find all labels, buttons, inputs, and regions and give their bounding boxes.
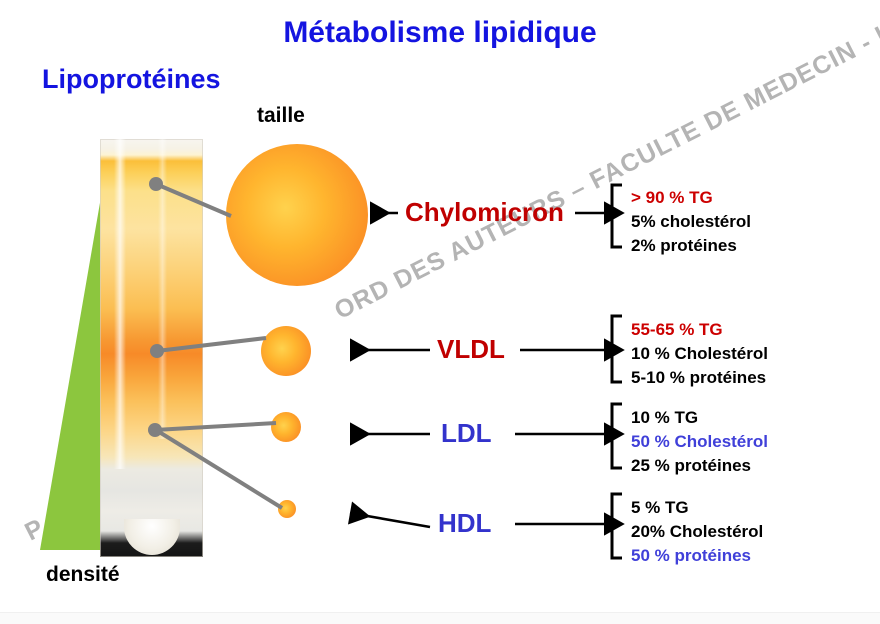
bottom-strip bbox=[0, 612, 880, 624]
composition-chylomicron: > 90 % TG 5% cholestérol 2% protéines bbox=[631, 186, 751, 258]
bracket-vldl bbox=[612, 316, 622, 382]
composition-line: > 90 % TG bbox=[631, 186, 751, 210]
class-label-chylomicron: Chylomicron bbox=[405, 197, 564, 228]
axis-label-taille: taille bbox=[257, 104, 305, 128]
class-label-ldl: LDL bbox=[441, 418, 492, 449]
particle-ldl bbox=[271, 412, 301, 442]
composition-line: 5% cholestérol bbox=[631, 210, 751, 234]
composition-line: 20% Cholestérol bbox=[631, 520, 763, 544]
composition-line: 50 % Cholestérol bbox=[631, 430, 768, 454]
composition-ldl: 10 % TG 50 % Cholestérol 25 % protéines bbox=[631, 406, 768, 478]
watermark-text: ORD DES AUTEURS – FACULTE DE MEDECIN - U… bbox=[330, 9, 880, 325]
bracket-hdl bbox=[612, 494, 622, 558]
density-gradient-triangle bbox=[40, 168, 106, 550]
centrifuge-tube-image bbox=[100, 139, 203, 557]
tube-highlight-secondary bbox=[158, 139, 167, 439]
bracket-chylomicron bbox=[612, 185, 622, 247]
composition-line: 2% protéines bbox=[631, 234, 751, 258]
composition-line: 55-65 % TG bbox=[631, 318, 768, 342]
class-label-vldl-text: VLDL bbox=[437, 334, 505, 364]
page-title: Métabolisme lipidique bbox=[0, 16, 880, 50]
tube-bottom bbox=[124, 519, 180, 555]
composition-line: 10 % TG bbox=[631, 406, 768, 430]
class-label-ldl-text: LDL bbox=[441, 418, 492, 448]
composition-line: 25 % protéines bbox=[631, 454, 768, 478]
class-label-hdl: HDL bbox=[438, 508, 491, 539]
class-label-vldl: VLDL bbox=[437, 334, 505, 365]
particle-hdl bbox=[278, 500, 296, 518]
composition-line: 10 % Cholestérol bbox=[631, 342, 768, 366]
arrow-left-hdl bbox=[350, 513, 430, 527]
composition-hdl: 5 % TG 20% Cholestérol 50 % protéines bbox=[631, 496, 763, 568]
particle-chylomicron bbox=[226, 144, 368, 286]
composition-line: 50 % protéines bbox=[631, 544, 763, 568]
slide-canvas: Métabolisme lipidique Lipoprotéines tail… bbox=[0, 0, 880, 624]
class-label-hdl-text: HDL bbox=[438, 508, 491, 538]
bracket-ldl bbox=[612, 404, 622, 468]
composition-line: 5 % TG bbox=[631, 496, 763, 520]
particle-vldl bbox=[261, 326, 311, 376]
subtitle-lipoproteines: Lipoprotéines bbox=[42, 64, 221, 95]
axis-label-densite: densité bbox=[46, 563, 120, 587]
tube-highlight bbox=[114, 139, 126, 469]
composition-vldl: 55-65 % TG 10 % Cholestérol 5-10 % proté… bbox=[631, 318, 768, 390]
class-label-chylomicron-text: Chylomicron bbox=[405, 197, 564, 227]
composition-line: 5-10 % protéines bbox=[631, 366, 768, 390]
